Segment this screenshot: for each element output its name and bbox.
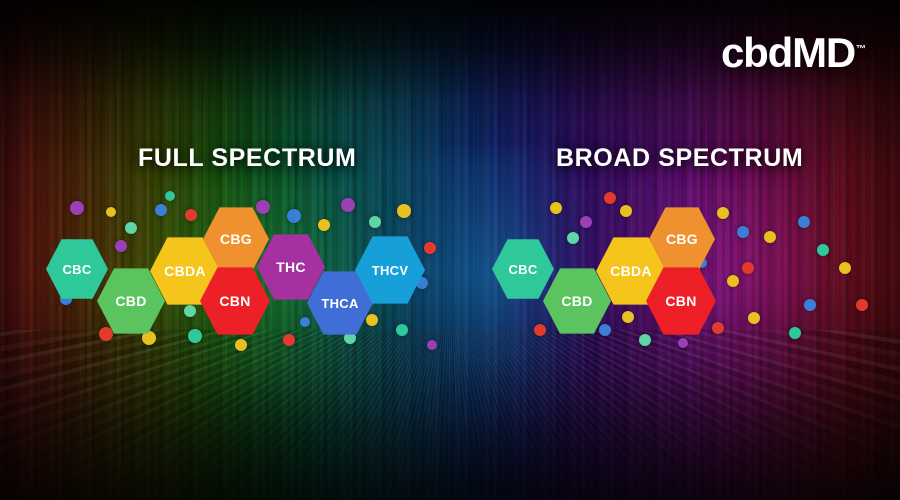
decorative-dot	[341, 198, 355, 212]
decorative-dot	[748, 312, 760, 324]
decorative-dot	[424, 242, 436, 254]
compound-hexagon-label: THCA	[321, 296, 358, 311]
decorative-dot	[717, 207, 729, 219]
decorative-dot	[106, 207, 116, 217]
decorative-dot	[742, 262, 754, 274]
decorative-dot	[534, 324, 546, 336]
compound-hexagon-label: CBG	[220, 231, 252, 247]
decorative-dot	[70, 201, 84, 215]
decorative-dot	[115, 240, 127, 252]
decorative-dot	[580, 216, 592, 228]
decorative-dot	[798, 216, 810, 228]
decorative-dot	[125, 222, 137, 234]
decorative-dot	[789, 327, 801, 339]
decorative-dot	[639, 334, 651, 346]
compound-hexagon-label: CBC	[508, 262, 537, 277]
decorative-dot	[839, 262, 851, 274]
decorative-dot	[184, 305, 196, 317]
compound-hexagon-label: CBN	[219, 293, 250, 309]
compound-hexagon-label: CBN	[665, 293, 696, 309]
decorative-dot	[678, 338, 688, 348]
decorative-dot	[712, 322, 724, 334]
full-spectrum-heading: FULL SPECTRUM	[138, 144, 356, 173]
decorative-dot	[155, 204, 167, 216]
infographic-canvas: cbdMD™ FULL SPECTRUM BROAD SPECTRUM CBCC…	[0, 0, 900, 500]
decorative-dot	[369, 216, 381, 228]
decorative-dot	[396, 324, 408, 336]
decorative-dot	[599, 324, 611, 336]
decorative-dot	[550, 202, 562, 214]
decorative-dot	[256, 200, 270, 214]
decorative-dot	[165, 191, 175, 201]
decorative-dot	[188, 329, 202, 343]
decorative-dot	[817, 244, 829, 256]
decorative-dot	[622, 311, 634, 323]
decorative-dot	[856, 299, 868, 311]
compound-hexagon-label: THCV	[372, 263, 409, 278]
decorative-dot	[318, 219, 330, 231]
broad-spectrum-heading: BROAD SPECTRUM	[556, 144, 803, 173]
decorative-dot	[99, 327, 113, 341]
compound-hexagon-label: CBDA	[610, 263, 652, 279]
decorative-dot	[737, 226, 749, 238]
decorative-dot	[235, 339, 247, 351]
compound-hexagon-label: CBD	[561, 293, 592, 309]
decorative-dot	[300, 317, 310, 327]
decorative-dot	[185, 209, 197, 221]
logo-wordmark: cbdMD	[721, 29, 855, 76]
compound-hexagon-label: CBDA	[164, 263, 206, 279]
compound-hexagon-label: THC	[276, 259, 306, 275]
decorative-dot	[283, 334, 295, 346]
decorative-dot	[397, 204, 411, 218]
compound-hexagon-label: CBD	[115, 293, 146, 309]
decorative-dot	[287, 209, 301, 223]
compound-hexagon-label: CBC	[62, 262, 91, 277]
decorative-dot	[604, 192, 616, 204]
compound-hexagon-label: CBG	[666, 231, 698, 247]
decorative-dot	[804, 299, 816, 311]
decorative-dot	[764, 231, 776, 243]
decorative-dot	[427, 340, 437, 350]
cbdmd-logo: cbdMD™	[721, 32, 866, 74]
decorative-dot	[727, 275, 739, 287]
decorative-dot	[620, 205, 632, 217]
decorative-dot	[567, 232, 579, 244]
trademark-icon: ™	[856, 44, 866, 55]
decorative-dot	[366, 314, 378, 326]
